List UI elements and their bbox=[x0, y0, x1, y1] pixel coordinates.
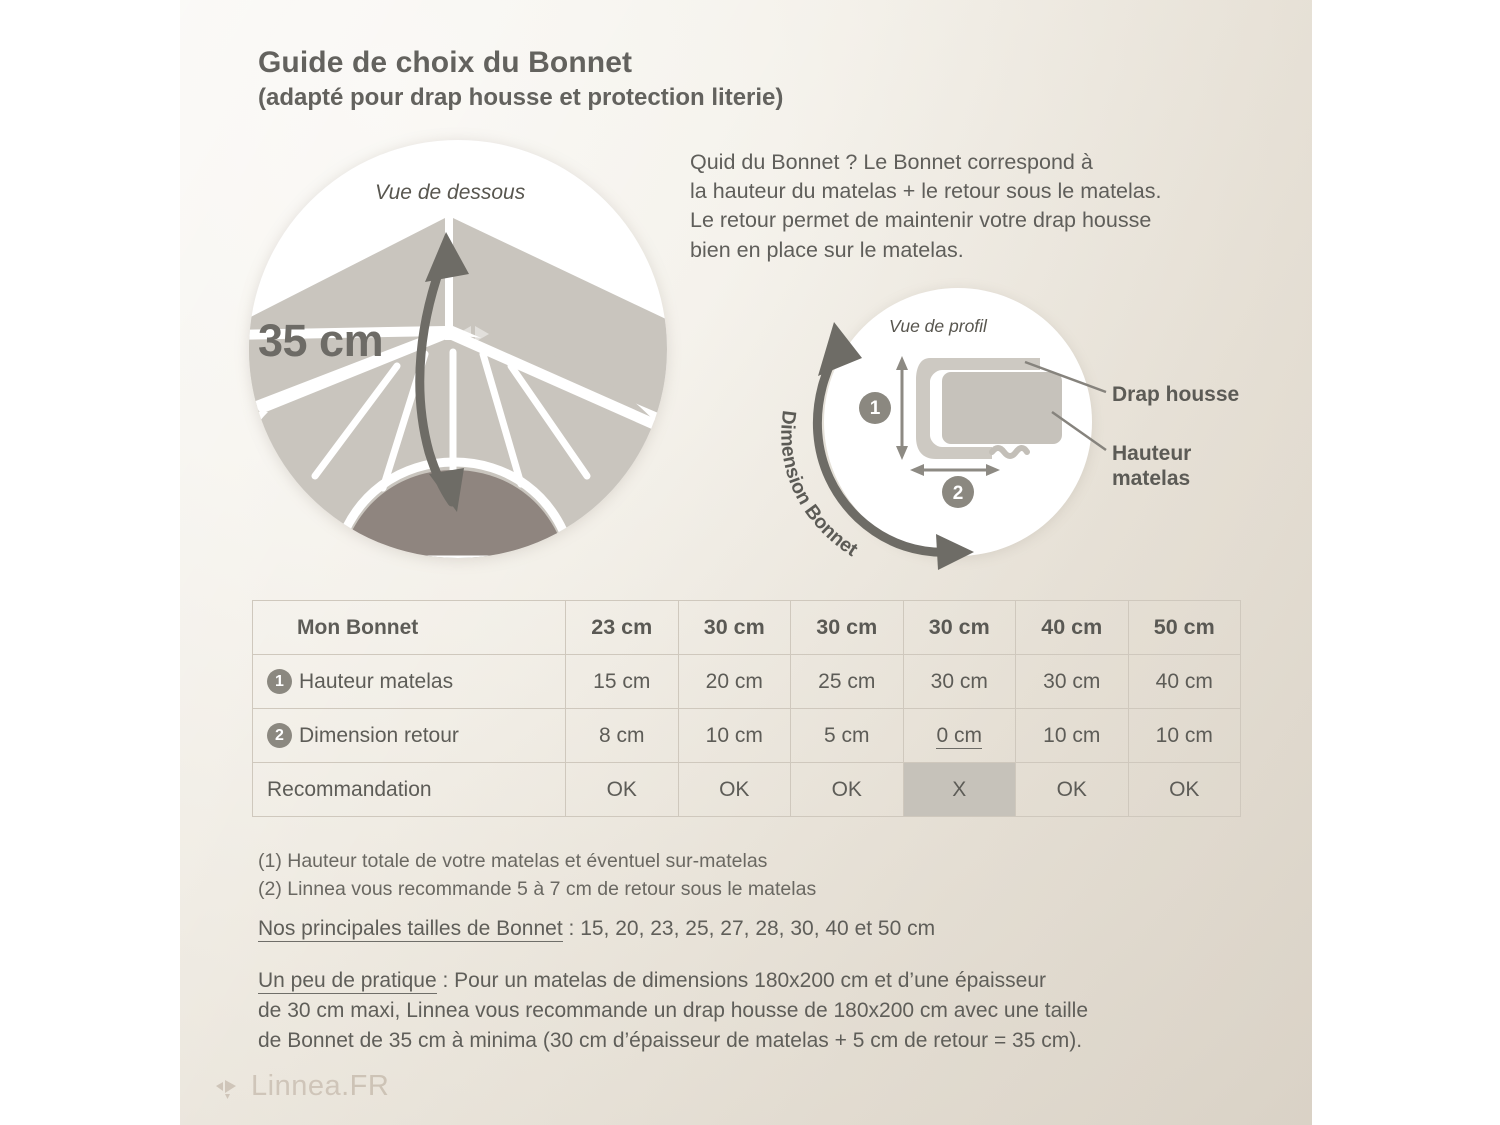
table-row-label-text: Hauteur matelas bbox=[299, 670, 453, 693]
bonnet-measure-label: 35 cm bbox=[258, 315, 383, 367]
table-cell: 0 cm bbox=[903, 709, 1016, 763]
footnotes: (1) Hauteur totale de votre matelas et é… bbox=[258, 848, 816, 903]
title-block: Guide de choix du Bonnet (adapté pour dr… bbox=[258, 46, 1058, 112]
logo[interactable]: Linnea.FR bbox=[212, 1070, 389, 1103]
table-cell: OK bbox=[1128, 763, 1241, 817]
table-cell: OK bbox=[566, 763, 679, 817]
table-row-label-text: Recommandation bbox=[267, 778, 432, 801]
footnote-2: (2) Linnea vous recommande 5 à 7 cm de r… bbox=[258, 876, 816, 904]
page-subtitle: (adapté pour drap housse et protection l… bbox=[258, 84, 1058, 113]
annotation-hauteur-line2: matelas bbox=[1112, 467, 1191, 492]
intro-line-1: Quid du Bonnet ? Le Bonnet correspond à bbox=[690, 148, 1270, 177]
bottom-view-caption: Vue de dessous bbox=[375, 181, 525, 205]
table-cell: OK bbox=[1016, 763, 1129, 817]
linnea-diamond-icon bbox=[212, 1072, 242, 1102]
table-cell: X bbox=[903, 763, 1016, 817]
table-row-label: 2Dimension retour bbox=[253, 709, 566, 763]
profile-view-caption: Vue de profil bbox=[889, 316, 987, 337]
practical-line-3: de Bonnet de 35 cm à minima (30 cm d’épa… bbox=[258, 1026, 1258, 1056]
intro-line-4: bien en place sur le matelas. bbox=[690, 236, 1270, 265]
table-cell: 15 cm bbox=[566, 655, 679, 709]
table-cell: 30 cm bbox=[791, 601, 904, 655]
available-sizes-line: Nos principales tailles de Bonnet : 15, … bbox=[258, 917, 935, 941]
table-row: 2Dimension retour8 cm10 cm5 cm0 cm10 cm1… bbox=[253, 709, 1241, 763]
logo-suffix: .FR bbox=[341, 1070, 389, 1102]
table-row: 1Hauteur matelas15 cm20 cm25 cm30 cm30 c… bbox=[253, 655, 1241, 709]
arc-label-text: Dimension Bonnet bbox=[776, 409, 862, 561]
table-cell: 30 cm bbox=[1016, 655, 1129, 709]
table-cell: 50 cm bbox=[1128, 601, 1241, 655]
footnote-1: (1) Hauteur totale de votre matelas et é… bbox=[258, 848, 816, 876]
intro-line-2: la hauteur du matelas + le retour sous l… bbox=[690, 177, 1270, 206]
table-cell: 30 cm bbox=[903, 601, 1016, 655]
table-row-label: Recommandation bbox=[253, 763, 566, 817]
svg-text:Dimension Bonnet: Dimension Bonnet bbox=[776, 409, 862, 561]
table-cell: 25 cm bbox=[791, 655, 904, 709]
logo-name: Linnea bbox=[251, 1070, 341, 1102]
bonnet-table: Mon Bonnet23 cm30 cm30 cm30 cm40 cm50 cm… bbox=[252, 600, 1241, 817]
table-cell-underlined: 0 cm bbox=[936, 724, 982, 749]
table-cell: 10 cm bbox=[1128, 709, 1241, 763]
table-cell: OK bbox=[678, 763, 791, 817]
practical-line-2: de 30 cm maxi, Linnea vous recommande un… bbox=[258, 996, 1258, 1026]
practical-example: Un peu de pratique : Pour un matelas de … bbox=[258, 966, 1258, 1055]
table-cell: 23 cm bbox=[566, 601, 679, 655]
table-cell: 10 cm bbox=[1016, 709, 1129, 763]
table-row: Mon Bonnet23 cm30 cm30 cm30 cm40 cm50 cm bbox=[253, 601, 1241, 655]
practical-heading: Un peu de pratique bbox=[258, 969, 437, 994]
annotation-hauteur-line1: Hauteur bbox=[1112, 442, 1191, 467]
page-title: Guide de choix du Bonnet bbox=[258, 46, 1058, 80]
table-cell: 8 cm bbox=[566, 709, 679, 763]
arc-label-svg: Dimension Bonnet bbox=[760, 400, 980, 590]
annotation-drap-housse: Drap housse bbox=[1112, 383, 1239, 408]
infographic-root: Vue de dessous 35 cm bbox=[0, 0, 1500, 1125]
table-row: RecommandationOKOKOKXOKOK bbox=[253, 763, 1241, 817]
logo-text: Linnea.FR bbox=[251, 1070, 389, 1103]
intro-paragraph: Quid du Bonnet ? Le Bonnet correspond à … bbox=[690, 148, 1270, 265]
table-cell: 40 cm bbox=[1128, 655, 1241, 709]
table-row-label: Mon Bonnet bbox=[253, 601, 566, 655]
row-badge-1: 1 bbox=[267, 669, 292, 694]
intro-line-3: Le retour permet de maintenir votre drap… bbox=[690, 206, 1270, 235]
table-cell: 30 cm bbox=[678, 601, 791, 655]
annotation-hauteur-matelas: Hauteur matelas bbox=[1112, 442, 1191, 492]
table-cell: 10 cm bbox=[678, 709, 791, 763]
table-row-label: 1Hauteur matelas bbox=[253, 655, 566, 709]
available-sizes-values: : 15, 20, 23, 25, 27, 28, 30, 40 et 50 c… bbox=[563, 917, 935, 940]
available-sizes-heading: Nos principales tailles de Bonnet bbox=[258, 917, 563, 942]
table-cell: 30 cm bbox=[903, 655, 1016, 709]
table-row-label-text: Mon Bonnet bbox=[297, 616, 418, 639]
table-cell: 40 cm bbox=[1016, 601, 1129, 655]
row-badge-2: 2 bbox=[267, 723, 292, 748]
table-cell: 5 cm bbox=[791, 709, 904, 763]
practical-line-1: Un peu de pratique : Pour un matelas de … bbox=[258, 966, 1258, 996]
table-row-label-text: Dimension retour bbox=[299, 724, 459, 747]
table-cell: OK bbox=[791, 763, 904, 817]
bonnet-table-wrapper: Mon Bonnet23 cm30 cm30 cm30 cm40 cm50 cm… bbox=[252, 600, 1241, 817]
table-cell: 20 cm bbox=[678, 655, 791, 709]
practical-line-1-rest: : Pour un matelas de dimensions 180x200 … bbox=[437, 969, 1046, 992]
